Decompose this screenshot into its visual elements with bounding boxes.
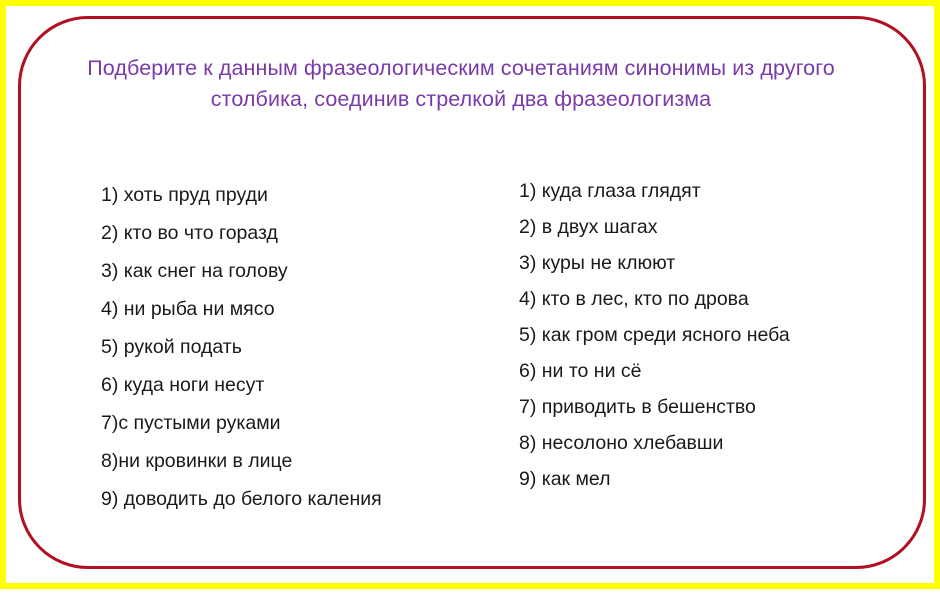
list-item[interactable]: 8) несолоно хлебавши bbox=[519, 425, 919, 461]
list-item[interactable]: 4) кто в лес, кто по дрова bbox=[519, 281, 919, 317]
list-item[interactable]: 5) как гром среди ясного неба bbox=[519, 317, 919, 353]
list-item[interactable]: 2) кто во что горазд bbox=[101, 214, 501, 252]
left-column: 1) хоть пруд пруди 2) кто во что горазд … bbox=[101, 176, 501, 518]
list-item[interactable]: 6) куда ноги несут bbox=[101, 366, 501, 404]
list-item[interactable]: 6) ни то ни сё bbox=[519, 353, 919, 389]
phrase-columns: 1) хоть пруд пруди 2) кто во что горазд … bbox=[6, 6, 940, 595]
list-item[interactable]: 7)с пустыми руками bbox=[101, 404, 501, 442]
list-item[interactable]: 2) в двух шагах bbox=[519, 209, 919, 245]
list-item[interactable]: 5) рукой подать bbox=[101, 328, 501, 366]
list-item[interactable]: 9) как мел bbox=[519, 461, 919, 497]
list-item[interactable]: 1) куда глаза глядят bbox=[519, 173, 919, 209]
list-item[interactable]: 4) ни рыба ни мясо bbox=[101, 290, 501, 328]
list-item[interactable]: 3) куры не клюют bbox=[519, 245, 919, 281]
list-item[interactable]: 1) хоть пруд пруди bbox=[101, 176, 501, 214]
list-item[interactable]: 8)ни кровинки в лице bbox=[101, 442, 501, 480]
list-item[interactable]: 3) как снег на голову bbox=[101, 252, 501, 290]
list-item[interactable]: 7) приводить в бешенство bbox=[519, 389, 919, 425]
slide-frame: Подберите к данным фразеологическим соче… bbox=[0, 0, 940, 589]
right-column: 1) куда глаза глядят 2) в двух шагах 3) … bbox=[519, 173, 919, 497]
list-item[interactable]: 9) доводить до белого каления bbox=[101, 480, 501, 518]
